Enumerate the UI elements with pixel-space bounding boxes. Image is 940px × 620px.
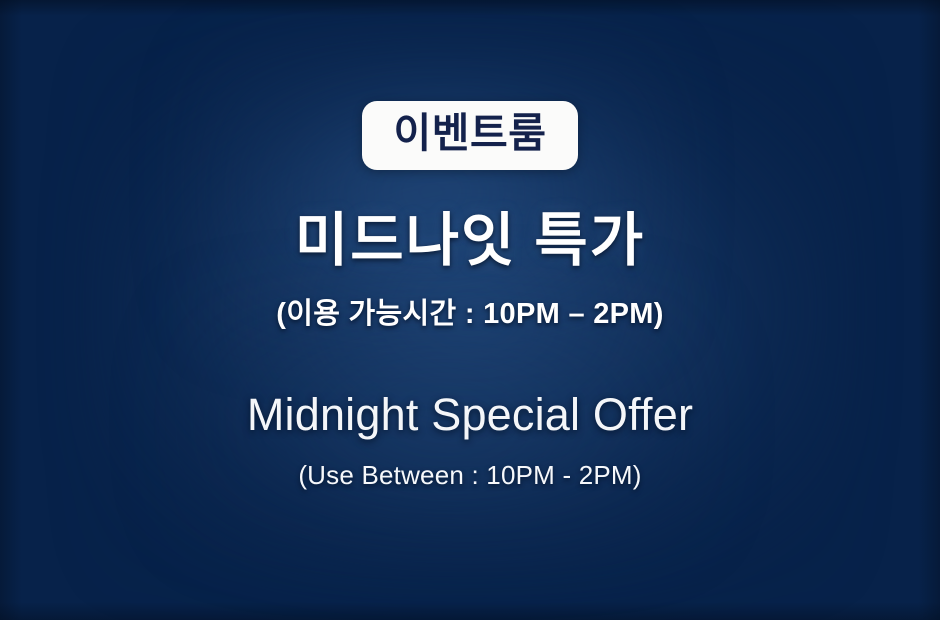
headline-english: Midnight Special Offer	[247, 389, 693, 441]
availability-english: (Use Between : 10PM - 2PM)	[298, 460, 641, 491]
availability-korean: (이용 가능시간 : 10PM – 2PM)	[276, 290, 663, 332]
headline-korean: 미드나잇 특가	[295, 209, 645, 273]
promo-banner: 이벤트룸 미드나잇 특가 (이용 가능시간 : 10PM – 2PM) Midn…	[0, 0, 940, 620]
banner-content: 이벤트룸 미드나잇 특가 (이용 가능시간 : 10PM – 2PM) Midn…	[0, 0, 940, 491]
event-room-badge: 이벤트룸	[362, 101, 578, 170]
